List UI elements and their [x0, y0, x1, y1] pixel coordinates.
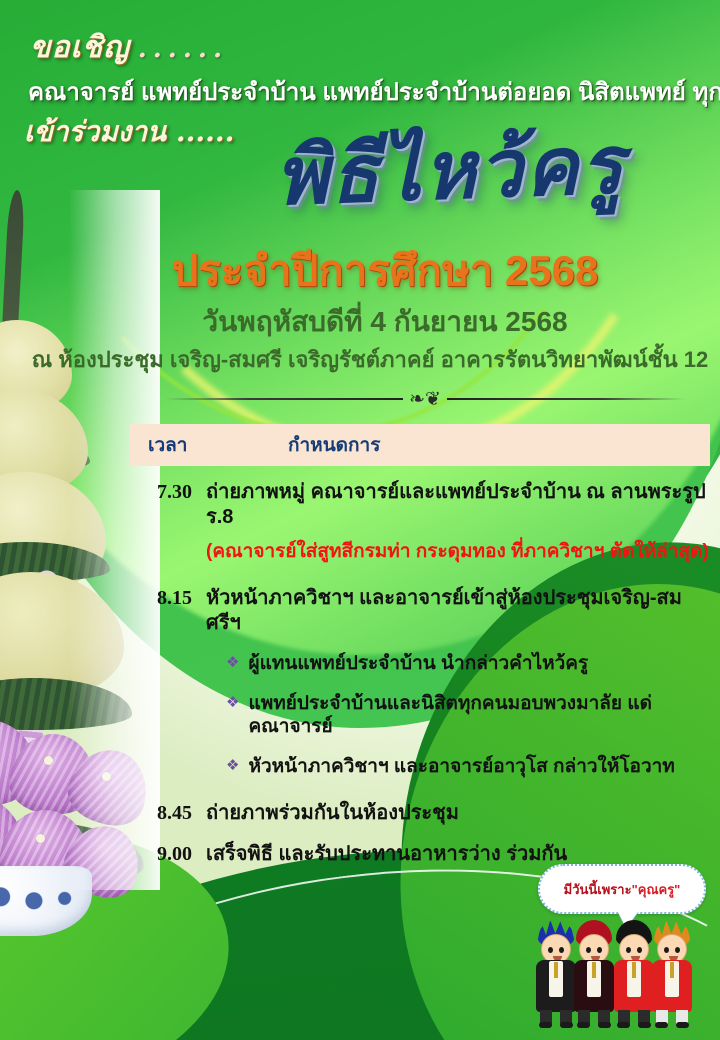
column-header-program: กำหนดการ [288, 430, 380, 460]
eye-icon [637, 947, 642, 953]
tie-icon [670, 962, 674, 978]
shoe-icon [577, 1022, 590, 1028]
list-item-label: หัวหน้าภาควิชาฯ และอาจารย์อาวุโส กล่าวให… [248, 755, 674, 779]
schedule-table: เวลา กำหนดการ 7.30 ถ่ายภาพหมู่ คณาจารย์แ… [130, 424, 710, 867]
bai-sri-bud [102, 772, 111, 781]
diamond-bullet-icon: ❖ [226, 755, 239, 778]
table-row: 8.45 ถ่ายภาพร่วมกันในห้องประชุม [130, 801, 710, 826]
speech-bubble: มีวันนี้เพราะ "คุณครู" [538, 864, 706, 914]
legs-icon [578, 1010, 610, 1030]
page-title: พิธีไหว้ครู [199, 119, 702, 220]
schedule-sub-items: ❖ ผู้แทนแพทย์ประจำบ้าน นำกล่าวคำไหว้ครู … [130, 652, 710, 779]
leg-icon [598, 1010, 610, 1028]
shoe-icon [655, 1022, 668, 1028]
avatar [650, 920, 694, 1032]
avatar [572, 920, 616, 1032]
eye-icon [597, 947, 602, 953]
column-header-time: เวลา [148, 430, 226, 460]
list-item: ❖ หัวหน้าภาควิชาฯ และอาจารย์อาวุโส กล่าว… [226, 755, 710, 779]
row-note-dresscode: (คณาจารย์ใส่สูทสีกรมท่า กระดุมทอง ที่ภาค… [206, 540, 710, 564]
tie-icon [632, 962, 636, 978]
audience-line: คณาจารย์ แพทย์ประจำบ้าน แพทย์ประจำบ้านต่… [28, 72, 698, 111]
shoe-icon [676, 1022, 689, 1028]
leg-icon [656, 1010, 668, 1028]
mascot-group: มีวันนี้เพราะ "คุณครู" [532, 864, 708, 1034]
eye-icon [675, 947, 680, 953]
leg-icon [638, 1010, 650, 1028]
eye-icon [586, 947, 591, 953]
legs-icon [540, 1010, 572, 1030]
invite-heading-text: ขอเชิญ [30, 30, 130, 65]
eye-icon [548, 947, 553, 953]
diamond-bullet-icon: ❖ [226, 692, 239, 715]
eye-icon [559, 947, 564, 953]
table-row: 9.00 เสร็จพิธี และรับประทานอาหารว่าง ร่ว… [130, 842, 710, 867]
row-detail: เสร็จพิธี และรับประทานอาหารว่าง ร่วมกัน [206, 842, 567, 867]
shoe-icon [617, 1022, 630, 1028]
ornamental-divider: ❧❦ [165, 388, 685, 410]
list-item: ❖ ผู้แทนแพทย์ประจำบ้าน นำกล่าวคำไหว้ครู [226, 652, 710, 676]
bai-sri-leaf-band-3 [0, 678, 132, 730]
legs-icon [618, 1010, 650, 1030]
eye-icon [626, 947, 631, 953]
speech-bubble-highlight: "คุณครู" [632, 879, 681, 900]
list-item: ❖ แพทย์ประจำบ้านและนิสิตทุกคนมอบพวงมาลัย… [226, 692, 710, 740]
divider-rule-left [165, 398, 403, 400]
row-detail: ถ่ายภาพร่วมกันในห้องประชุม [206, 801, 459, 826]
shoe-icon [598, 1022, 611, 1028]
table-row: 7.30 ถ่ายภาพหมู่ คณาจารย์และแพทย์ประจำบ้… [130, 480, 710, 530]
row-detail: ถ่ายภาพหมู่ คณาจารย์และแพทย์ประจำบ้าน ณ … [206, 480, 710, 530]
divider-rule-right [447, 398, 685, 400]
legs-icon [656, 1010, 688, 1030]
event-venue: ณ ห้องประชุม เจริญ-สมศรี เจริญรัชต์ภาคย์… [30, 342, 710, 377]
leg-icon [618, 1010, 630, 1028]
list-item-label: แพทย์ประจำบ้านและนิสิตทุกคนมอบพวงมาลัย แ… [248, 692, 710, 740]
leg-icon [560, 1010, 572, 1028]
row-time: 8.45 [130, 801, 192, 825]
invitation-poster: ขอเชิญ...... คณาจารย์ แพทย์ประจำบ้าน แพท… [0, 0, 720, 1040]
tie-icon [592, 962, 596, 978]
divider-flourish-icon: ❧❦ [409, 390, 441, 409]
tie-icon [554, 962, 558, 978]
row-detail: หัวหน้าภาควิชาฯ และอาจารย์เข้าสู่ห้องประ… [206, 586, 710, 636]
list-item-label: ผู้แทนแพทย์ประจำบ้าน นำกล่าวคำไหว้ครู [248, 652, 588, 676]
eye-icon [664, 947, 669, 953]
table-row: 8.15 หัวหน้าภาควิชาฯ และอาจารย์เข้าสู่ห้… [130, 586, 710, 636]
row-time: 7.30 [130, 480, 192, 504]
bai-sri-bud [44, 756, 53, 765]
schedule-header-row: เวลา กำหนดการ [130, 424, 710, 466]
bai-sri-base-blue-motif [0, 880, 80, 920]
invite-heading: ขอเชิญ...... [30, 24, 228, 71]
speech-bubble-prefix: มีวันนี้เพราะ [564, 879, 632, 900]
diamond-bullet-icon: ❖ [226, 652, 239, 675]
leg-icon [578, 1010, 590, 1028]
shoe-icon [539, 1022, 552, 1028]
invite-heading-dots: ...... [138, 34, 228, 64]
leg-icon [540, 1010, 552, 1028]
page-subtitle: ประจำปีการศึกษา 2568 [150, 238, 620, 304]
event-date: วันพฤหัสบดีที่ 4 กันยายน 2568 [90, 300, 680, 344]
bai-sri-bud [36, 834, 45, 843]
row-time: 8.15 [130, 586, 192, 610]
row-time: 9.00 [130, 842, 192, 866]
leg-icon [676, 1010, 688, 1028]
